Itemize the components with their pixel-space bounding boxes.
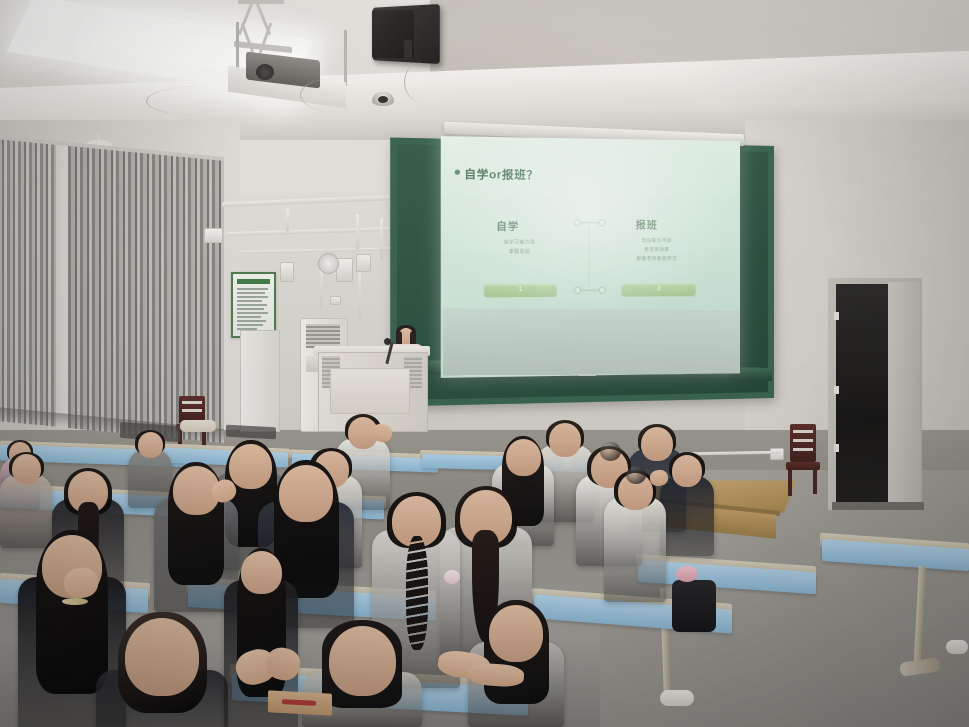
student-s17 [660, 452, 714, 556]
student-hair-bun [626, 466, 646, 484]
white-sneaker [660, 690, 694, 706]
student-head [506, 439, 541, 476]
student-head [279, 465, 333, 522]
student-torso [660, 476, 714, 556]
hair-scrunchie [444, 570, 460, 584]
white-sneaker-2 [946, 640, 968, 654]
audience [0, 0, 969, 727]
classroom-photo: 自学or报班？ 自学 自学习能力强 掌握基础 1 报班 自控能力不好 希望高效率… [0, 0, 969, 727]
student-torso [604, 497, 666, 602]
student-head [138, 432, 163, 458]
student-head [241, 551, 282, 594]
student-head [12, 454, 41, 484]
student-hair-bun [600, 442, 621, 461]
bag-on-floor [672, 580, 716, 632]
student-s2 [96, 612, 228, 727]
student-head [489, 605, 543, 662]
student-s18 [604, 470, 666, 602]
student-head [125, 618, 199, 696]
student-head [329, 626, 396, 696]
bracelet [62, 598, 88, 605]
student-head [672, 455, 702, 487]
pink-accessory [676, 566, 698, 582]
